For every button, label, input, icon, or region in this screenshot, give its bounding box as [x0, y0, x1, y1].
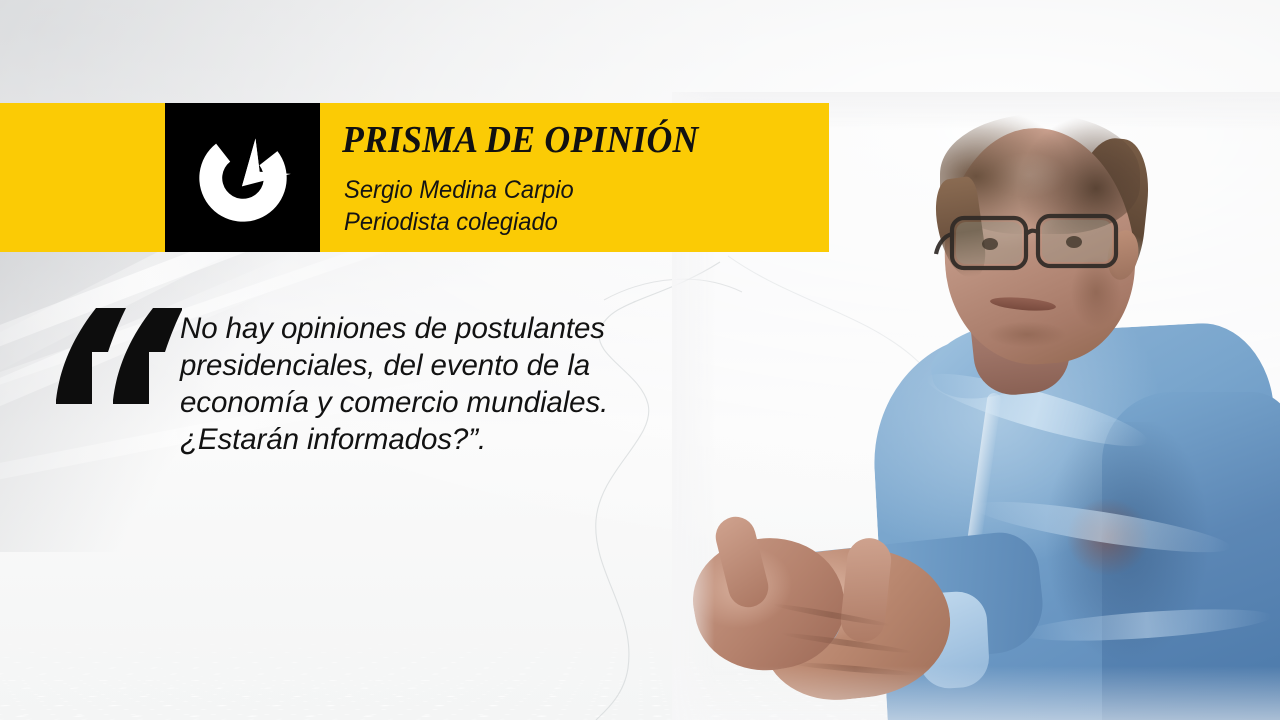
- banner-text-block: PRISMA DE OPINIÓN Sergio Medina Carpio P…: [342, 103, 812, 252]
- quote-line-1: No hay opiniones de postulantes: [180, 310, 650, 347]
- author-role: Periodista colegiado: [344, 208, 558, 237]
- eyeglasses: [934, 200, 1154, 290]
- quote-line-3: economía y comercio mundiales.: [180, 384, 650, 421]
- quote-line-2: presidenciales, del evento de la: [180, 347, 650, 384]
- author-name: Sergio Medina Carpio: [344, 176, 574, 205]
- photo-bottom-fade: [672, 666, 1280, 720]
- chin-shadow: [972, 320, 1082, 356]
- opinion-graphic-canvas: PRISMA DE OPINIÓN Sergio Medina Carpio P…: [0, 0, 1280, 720]
- quotation-mark-icon: [52, 300, 182, 420]
- quote-text-block: No hay opiniones de postulantes presiden…: [180, 310, 650, 458]
- page-title: PRISMA DE OPINIÓN: [342, 118, 699, 162]
- quote-line-4: ¿Estarán informados?”.: [180, 421, 650, 458]
- prisma-logo-icon: [191, 126, 295, 230]
- logo-container: [165, 103, 320, 252]
